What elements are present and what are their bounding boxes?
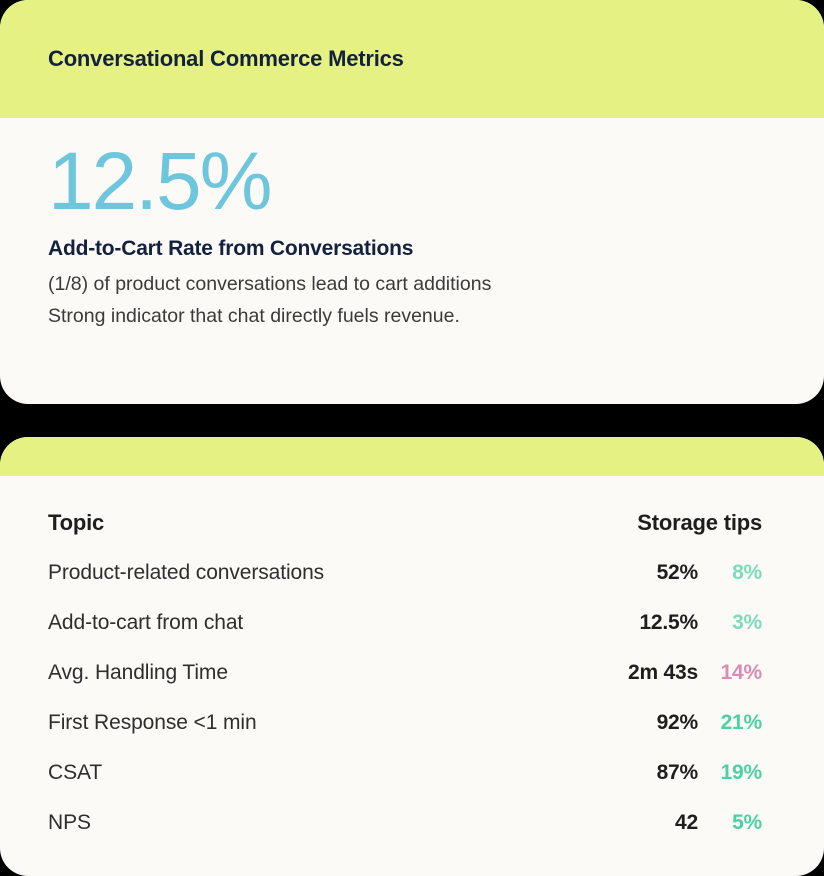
row-metric-value: 2m 43s bbox=[588, 648, 698, 698]
table-row: First Response <1 min92%21% bbox=[48, 698, 762, 748]
row-topic-label: CSAT bbox=[48, 748, 588, 798]
hero-description-line-1: (1/8) of product conversations lead to c… bbox=[48, 269, 776, 301]
table-header-row: Topic Storage tips bbox=[48, 498, 762, 548]
table-card-header-band bbox=[0, 437, 824, 476]
row-topic-label: NPS bbox=[48, 798, 588, 848]
metrics-table-card: Topic Storage tips Product-related conve… bbox=[0, 437, 824, 876]
hero-metric-description: (1/8) of product conversations lead to c… bbox=[48, 269, 776, 333]
row-topic-label: First Response <1 min bbox=[48, 698, 588, 748]
table-row: CSAT87%19% bbox=[48, 748, 762, 798]
row-delta-value: 3% bbox=[698, 598, 762, 648]
row-metric-value: 12.5% bbox=[588, 598, 698, 648]
metrics-table-wrapper: Topic Storage tips Product-related conve… bbox=[0, 476, 824, 848]
hero-description-line-2: Strong indicator that chat directly fuel… bbox=[48, 301, 776, 333]
row-delta-value: 14% bbox=[698, 648, 762, 698]
row-metric-value: 52% bbox=[588, 548, 698, 598]
row-metric-value: 92% bbox=[588, 698, 698, 748]
row-delta-value: 21% bbox=[698, 698, 762, 748]
hero-metric-card: Conversational Commerce Metrics 12.5% Ad… bbox=[0, 0, 824, 404]
metrics-table-body: Product-related conversations52%8%Add-to… bbox=[48, 548, 762, 848]
table-row: Avg. Handling Time2m 43s14% bbox=[48, 648, 762, 698]
hero-metric-value: 12.5% bbox=[48, 140, 776, 224]
row-delta-value: 19% bbox=[698, 748, 762, 798]
hero-metric-label: Add-to-Cart Rate from Conversations bbox=[48, 236, 776, 262]
metrics-table: Topic Storage tips Product-related conve… bbox=[48, 498, 762, 848]
table-row: Add-to-cart from chat12.5%3% bbox=[48, 598, 762, 648]
metrics-table-head: Topic Storage tips bbox=[48, 498, 762, 548]
column-header-storage-tips: Storage tips bbox=[588, 498, 762, 548]
row-metric-value: 42 bbox=[588, 798, 698, 848]
row-delta-value: 5% bbox=[698, 798, 762, 848]
row-delta-value: 8% bbox=[698, 548, 762, 598]
table-row: NPS425% bbox=[48, 798, 762, 848]
table-row: Product-related conversations52%8% bbox=[48, 548, 762, 598]
row-topic-label: Add-to-cart from chat bbox=[48, 598, 588, 648]
row-metric-value: 87% bbox=[588, 748, 698, 798]
row-topic-label: Avg. Handling Time bbox=[48, 648, 588, 698]
metrics-report-page: Conversational Commerce Metrics 12.5% Ad… bbox=[0, 0, 824, 876]
hero-card-body: 12.5% Add-to-Cart Rate from Conversation… bbox=[0, 118, 824, 332]
column-header-topic: Topic bbox=[48, 498, 588, 548]
row-topic-label: Product-related conversations bbox=[48, 548, 588, 598]
page-title: Conversational Commerce Metrics bbox=[48, 46, 404, 72]
hero-card-header-band: Conversational Commerce Metrics bbox=[0, 0, 824, 118]
